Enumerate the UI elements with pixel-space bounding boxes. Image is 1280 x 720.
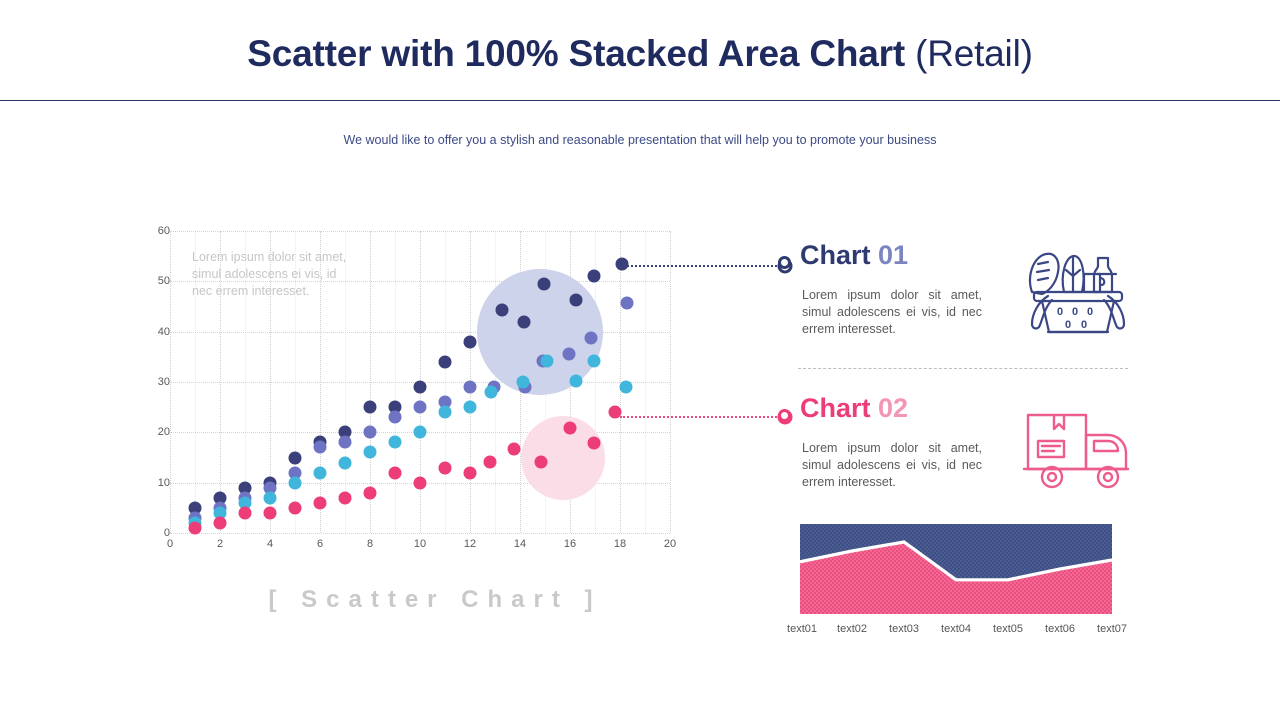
scatter-point <box>616 257 629 270</box>
area-category-label: text02 <box>837 623 867 635</box>
x-axis-tick-label: 0 <box>167 538 173 550</box>
scatter-point <box>588 270 601 283</box>
area-category-label: text07 <box>1097 623 1127 635</box>
x-axis-tick-label: 20 <box>664 538 676 550</box>
scatter-annotation: Lorem ipsum dolor sit amet, simul adoles… <box>192 249 352 300</box>
chart-01-body: Lorem ipsum dolor sit amet, simul adoles… <box>802 287 982 338</box>
x-axis-tick-label: 12 <box>464 538 476 550</box>
scatter-point <box>389 436 402 449</box>
scatter-point <box>585 331 598 344</box>
scatter-point <box>464 401 477 414</box>
scatter-point <box>620 296 633 309</box>
slide-root: Scatter with 100% Stacked Area Chart (Re… <box>0 0 1280 720</box>
chart-02-title: Chart 02 <box>800 393 908 424</box>
y-axis-tick-label: 40 <box>140 326 170 338</box>
chart-02-body: Lorem ipsum dolor sit amet, simul adoles… <box>802 440 982 491</box>
callout-connector-line <box>620 416 780 418</box>
scatter-point <box>563 422 576 435</box>
svg-text:0: 0 <box>1057 306 1063 318</box>
scatter-point <box>414 426 427 439</box>
scatter-point <box>314 466 327 479</box>
scatter-point <box>339 491 352 504</box>
y-axis-tick-label: 30 <box>140 376 170 388</box>
scatter-point <box>389 411 402 424</box>
scatter-point <box>439 461 452 474</box>
scatter-point <box>364 486 377 499</box>
chart-02-title-number: 02 <box>878 393 908 423</box>
page-subtitle: We would like to offer you a stylish and… <box>0 133 1280 147</box>
scatter-plot-area: Lorem ipsum dolor sit amet, simul adoles… <box>170 231 670 533</box>
grid-line-horizontal <box>170 533 670 534</box>
scatter-point <box>619 381 632 394</box>
grid-line-vertical <box>670 231 671 533</box>
chart-01-title: Chart 01 <box>800 240 908 271</box>
scatter-point <box>518 316 531 329</box>
stacked-area-chart <box>800 524 1112 614</box>
x-axis-tick-label: 6 <box>317 538 323 550</box>
scatter-point <box>517 375 530 388</box>
scatter-point <box>414 401 427 414</box>
scatter-point <box>464 335 477 348</box>
area-category-label: text03 <box>889 623 919 635</box>
chart-01-bullet-icon <box>778 256 791 269</box>
area-category-label: text06 <box>1045 623 1075 635</box>
scatter-point <box>439 406 452 419</box>
svg-text:0: 0 <box>1081 319 1087 331</box>
x-axis-tick-label: 14 <box>514 538 526 550</box>
delivery-truck-icon <box>1018 399 1138 499</box>
panel-item-chart-02[interactable]: Chart 02 Lorem ipsum dolor sit amet, sim… <box>778 393 1138 513</box>
scatter-point <box>464 381 477 394</box>
page-title-paren: (Retail) <box>915 33 1033 74</box>
scatter-point <box>189 521 202 534</box>
x-axis-tick-label: 2 <box>217 538 223 550</box>
chart-02-title-text: Chart <box>800 393 878 423</box>
y-axis-tick-label: 10 <box>140 477 170 489</box>
scatter-point <box>439 355 452 368</box>
scatter-point <box>562 347 575 360</box>
scatter-point <box>314 496 327 509</box>
x-axis-tick-label: 16 <box>564 538 576 550</box>
y-axis-tick-label: 50 <box>140 275 170 287</box>
scatter-point <box>483 456 496 469</box>
scatter-point <box>538 277 551 290</box>
scatter-point <box>339 456 352 469</box>
scatter-point <box>495 304 508 317</box>
scatter-point <box>541 355 554 368</box>
scatter-point <box>364 426 377 439</box>
scatter-point <box>364 401 377 414</box>
area-category-label: text05 <box>993 623 1023 635</box>
svg-text:0: 0 <box>1072 306 1078 318</box>
scatter-point <box>264 491 277 504</box>
scatter-point <box>289 451 302 464</box>
scatter-point <box>588 436 601 449</box>
chart-01-title-text: Chart <box>800 240 878 270</box>
chart-02-bullet-icon <box>778 409 791 422</box>
x-axis-tick-label: 10 <box>414 538 426 550</box>
area-chart-category-labels: text01text02text03text04text05text06text… <box>770 623 1140 641</box>
scatter-point <box>588 354 601 367</box>
scatter-point <box>239 506 252 519</box>
scatter-point <box>364 446 377 459</box>
scatter-point <box>264 506 277 519</box>
x-axis-tick-label: 4 <box>267 538 273 550</box>
y-axis-tick-label: 20 <box>140 426 170 438</box>
svg-text:0: 0 <box>1065 319 1071 331</box>
scatter-point <box>214 516 227 529</box>
chart-01-title-number: 01 <box>878 240 908 270</box>
scatter-point <box>289 476 302 489</box>
scatter-point <box>289 501 302 514</box>
scatter-point <box>464 466 477 479</box>
x-axis-tick-label: 8 <box>367 538 373 550</box>
area-category-label: text01 <box>787 623 817 635</box>
svg-text:0: 0 <box>1087 306 1093 318</box>
scatter-point <box>569 294 582 307</box>
scatter-x-axis: 02468101214161820 <box>170 538 670 558</box>
panel-divider <box>798 368 1128 369</box>
scatter-y-axis: 0102030405060 <box>140 220 170 533</box>
area-category-label: text04 <box>941 623 971 635</box>
scatter-caption: [ Scatter Chart ] <box>170 586 700 614</box>
page-title-main: Scatter with 100% Stacked Area Chart <box>247 33 905 74</box>
callout-connector-line <box>620 265 780 267</box>
scatter-point <box>414 476 427 489</box>
scatter-point <box>414 381 427 394</box>
scatter-point <box>507 443 520 456</box>
y-axis-tick-label: 0 <box>140 527 170 539</box>
scatter-point <box>389 466 402 479</box>
x-axis-tick-label: 18 <box>614 538 626 550</box>
page-title: Scatter with 100% Stacked Area Chart (Re… <box>0 28 1280 80</box>
scatter-point <box>339 436 352 449</box>
scatter-chart: 0102030405060 02468101214161820 Lorem ip… <box>140 220 700 620</box>
panel-item-chart-01[interactable]: Chart 01 Lorem ipsum dolor sit amet, sim… <box>778 240 1138 360</box>
scatter-point <box>534 455 547 468</box>
y-axis-tick-label: 60 <box>140 225 170 237</box>
scatter-point <box>484 386 497 399</box>
scatter-point <box>314 441 327 454</box>
header-divider <box>0 100 1280 101</box>
grid-line-horizontal <box>170 231 670 232</box>
scatter-point <box>570 375 583 388</box>
shopping-basket-icon: 000 00 <box>1018 240 1138 340</box>
